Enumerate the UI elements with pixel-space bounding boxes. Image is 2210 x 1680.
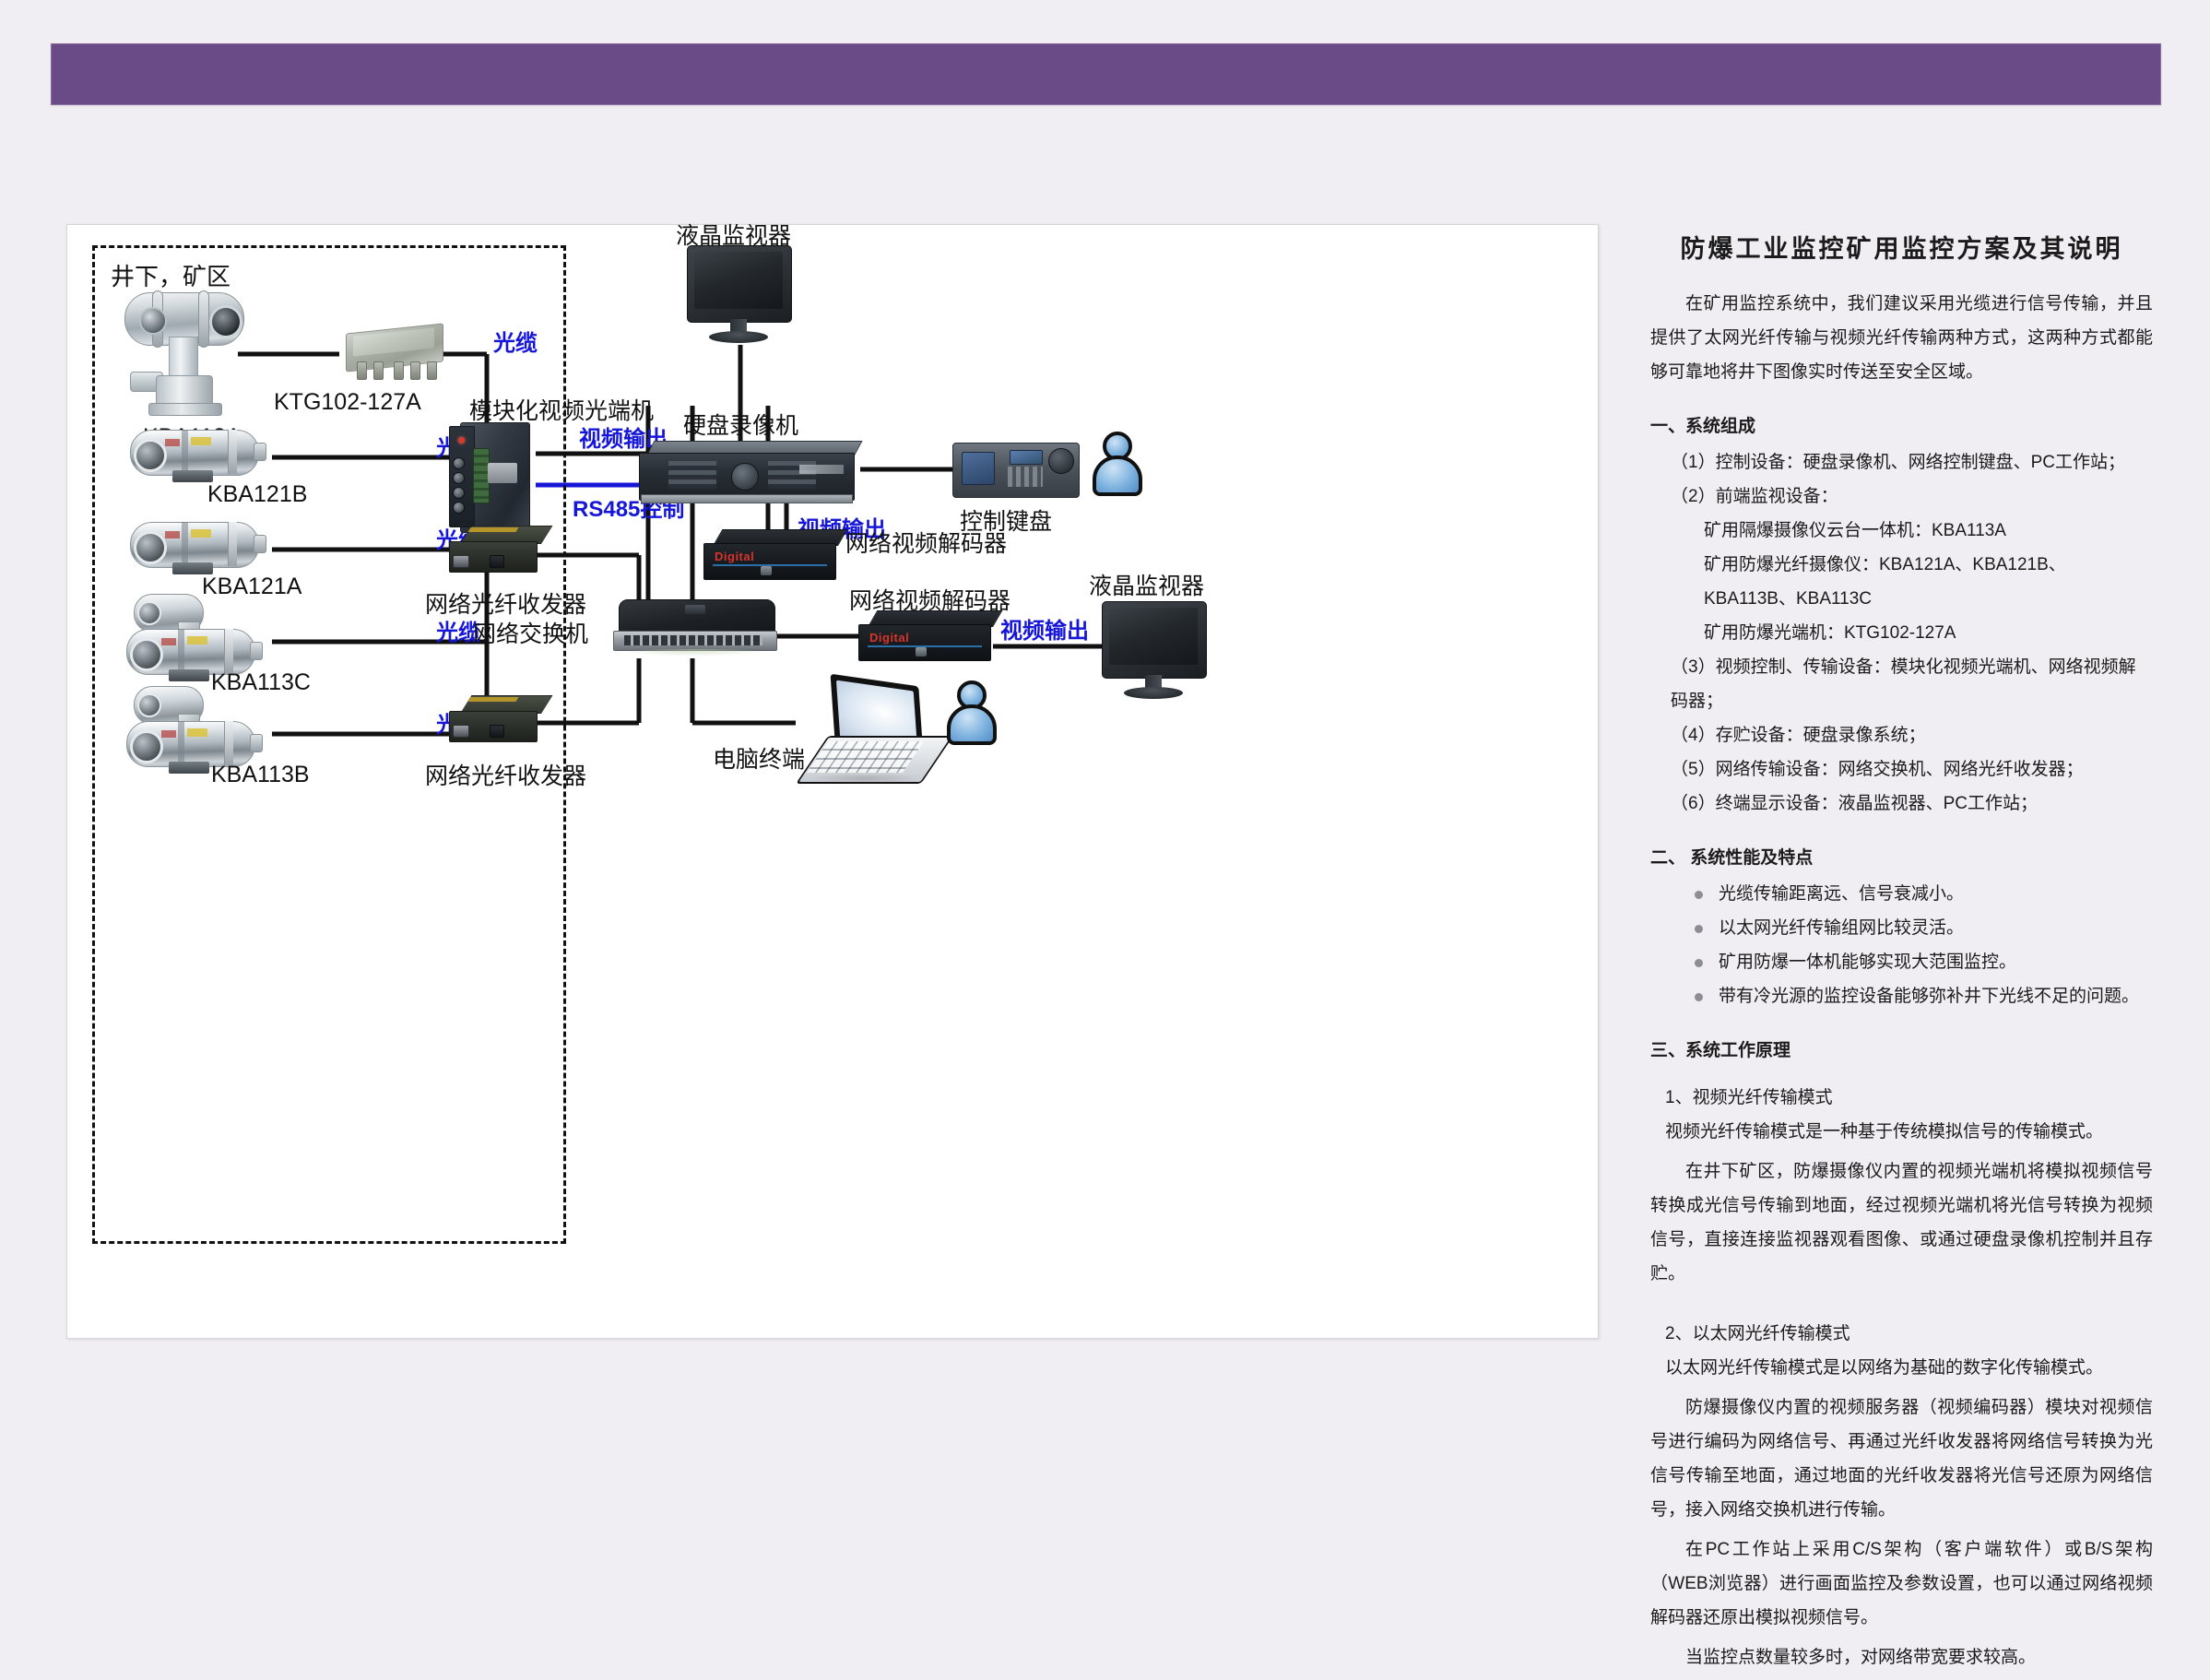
camera-device-113c bbox=[121, 590, 278, 682]
section-1-heading: 一、系统组成 bbox=[1650, 409, 2153, 444]
diagram-canvas: 井下，矿区 KBA113A KTG102-127A bbox=[67, 225, 1598, 1338]
label-dvr: 硬盘录像机 bbox=[683, 408, 798, 441]
fiber-transceiver-upper-device bbox=[447, 524, 549, 583]
operator-person-icon bbox=[1091, 430, 1144, 498]
camera-device-121a bbox=[124, 513, 272, 579]
section-1-subitem-3: 矿用防爆光端机：KTG102-127A bbox=[1704, 616, 2153, 650]
section-2-bullet-1: 光缆传输距离远、信号衰减小。 bbox=[1691, 877, 2153, 911]
section-1-item-2: （2）前端监视设备： bbox=[1671, 479, 2153, 514]
label-camera-113b: KBA113B bbox=[211, 762, 310, 788]
label-network-decoder-upper: 网络视频解码器 bbox=[845, 526, 1007, 559]
user-person-icon bbox=[945, 679, 999, 747]
label-fiber-transceiver-lower: 网络光纤收发器 bbox=[425, 758, 586, 791]
section-2-bullet-list: 光缆传输距离远、信号衰减小。 以太网光纤传输组网比较灵活。 矿用防爆一体机能够实… bbox=[1650, 877, 2153, 1013]
dvr-device bbox=[639, 441, 860, 505]
mode-1-paragraph-2: 在井下矿区，防爆摄像仪内置的视频光端机将模拟视频信号转换成光信号传输到地面，经过… bbox=[1650, 1154, 2153, 1291]
mode-1-heading: 1、视频光纤传输模式 bbox=[1665, 1081, 2153, 1115]
label-junction-box: KTG102-127A bbox=[274, 389, 421, 416]
section-1-item-6: （6）终端显示设备：液晶监视器、PC工作站； bbox=[1671, 787, 2153, 821]
mode-2-paragraph-3: 在PC工作站上采用C/S架构（客户端软件）或B/S架构（WEB浏览器）进行画面监… bbox=[1650, 1532, 2153, 1635]
section-1-subitem-1: 矿用隔爆摄像仪云台一体机：KBA113A bbox=[1704, 514, 2153, 548]
network-decoder-upper-device: Digital bbox=[703, 529, 842, 586]
video-optical-transceiver-device bbox=[447, 417, 536, 537]
mode-2-paragraph-2: 防爆摄像仪内置的视频服务器（视频编码器）模块对视频信号进行编码为网络信号、再通过… bbox=[1650, 1390, 2153, 1527]
fiber-transceiver-lower-device bbox=[447, 693, 549, 752]
section-2-heading: 二、 系统性能及特点 bbox=[1650, 841, 2153, 875]
control-keyboard-device bbox=[952, 437, 1081, 503]
label-network-switch: 网络交换机 bbox=[473, 616, 588, 649]
label-fiber-transceiver-upper: 网络光纤收发器 bbox=[425, 586, 586, 620]
ptz-camera-device bbox=[121, 276, 259, 414]
network-decoder-lower-device: Digital bbox=[858, 610, 997, 668]
section-1-subitem-2: 矿用防爆光纤摄像仪：KBA121A、KBA121B、KBA113B、KBA113… bbox=[1704, 548, 2153, 616]
section-1-item-1: （1）控制设备：硬盘录像机、网络控制键盘、PC工作站； bbox=[1671, 445, 2153, 479]
section-2-bullet-3: 矿用防爆一体机能够实现大范围监控。 bbox=[1691, 945, 2153, 979]
label-fiber-1: 光缆 bbox=[493, 325, 538, 357]
section-1-item-3: （3）视频控制、传输设备：模块化视频光端机、网络视频解码器； bbox=[1671, 650, 2153, 718]
description-column: 防爆工业监控矿用监控方案及其说明 在矿用监控系统中，我们建议采用光缆进行信号传输… bbox=[1650, 229, 2153, 1680]
section-1-item-4: （4）存贮设备：硬盘录像系统； bbox=[1671, 718, 2153, 752]
top-banner bbox=[51, 43, 2161, 105]
label-camera-121b: KBA121B bbox=[207, 481, 307, 508]
lcd-monitor-top-device bbox=[687, 245, 796, 347]
section-2-bullet-4: 带有冷光源的监控设备能够弥补井下光线不足的问题。 bbox=[1691, 979, 2153, 1013]
label-lcd-monitor-top: 液晶监视器 bbox=[676, 218, 791, 251]
camera-device-121b bbox=[124, 420, 272, 487]
decoder-monitor-line bbox=[993, 642, 1104, 651]
section-3-heading: 三、系统工作原理 bbox=[1650, 1034, 2153, 1068]
mode-2-heading: 2、以太网光纤传输模式 bbox=[1665, 1317, 2153, 1351]
label-video-out-3: 视频输出 bbox=[1000, 612, 1089, 645]
page-title: 防爆工业监控矿用监控方案及其说明 bbox=[1650, 229, 2153, 265]
diagram-panel: 井下，矿区 KBA113A KTG102-127A bbox=[66, 224, 1599, 1339]
lcd-monitor-right-device bbox=[1102, 601, 1211, 703]
label-network-decoder-lower: 网络视频解码器 bbox=[849, 583, 1010, 616]
intro-paragraph: 在矿用监控系统中，我们建议采用光缆进行信号传输，并且提供了太网光纤传输与视频光纤… bbox=[1650, 287, 2153, 389]
mode-2-paragraph-1: 以太网光纤传输模式是以网络为基础的数字化传输模式。 bbox=[1665, 1351, 2153, 1385]
mode-1-paragraph-1: 视频光纤传输模式是一种基于传统模拟信号的传输模式。 bbox=[1665, 1115, 2153, 1149]
label-pc-terminal: 电脑终端 bbox=[713, 741, 805, 775]
junction-box-device bbox=[340, 325, 451, 382]
pc-terminal-device bbox=[792, 680, 930, 791]
section-2-bullet-2: 以太网光纤传输组网比较灵活。 bbox=[1691, 911, 2153, 945]
label-lcd-monitor-right: 液晶监视器 bbox=[1089, 568, 1204, 601]
network-switch-device bbox=[613, 597, 779, 666]
camera-device-113b bbox=[121, 682, 278, 775]
section-1-item-5: （5）网络传输设备：网络交换机、网络光纤收发器； bbox=[1671, 752, 2153, 787]
mode-2-paragraph-4: 当监控点数量较多时，对网络带宽要求较高。 bbox=[1650, 1640, 2153, 1674]
